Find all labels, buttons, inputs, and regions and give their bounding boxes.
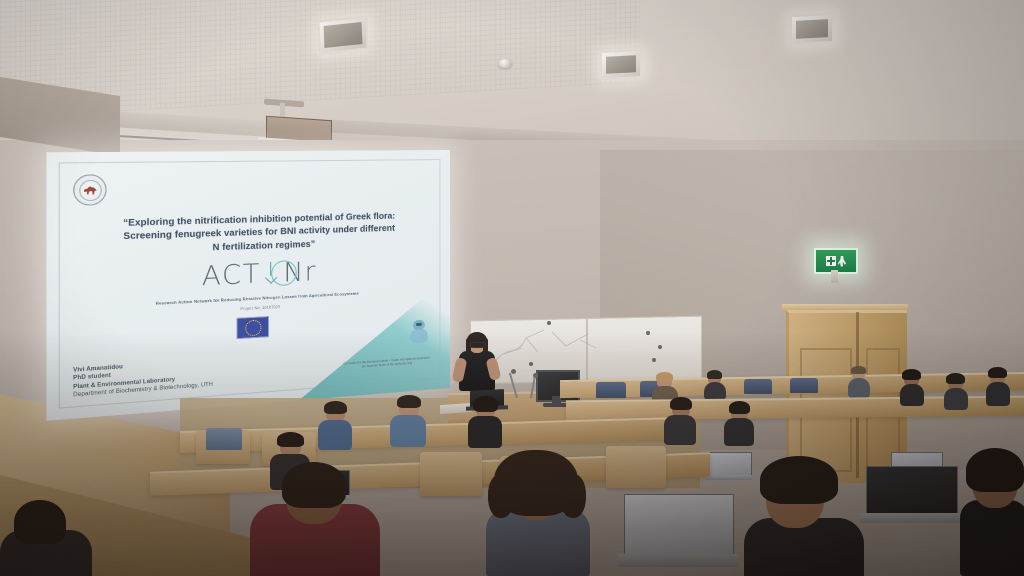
audience-member bbox=[724, 404, 754, 444]
audience-member bbox=[848, 368, 870, 396]
audience-member bbox=[664, 400, 696, 442]
whiteboard-magnet bbox=[529, 362, 533, 366]
logo-text-left: ACT bbox=[202, 258, 261, 292]
audience-member bbox=[318, 404, 352, 444]
audience-member-foreground bbox=[0, 500, 92, 576]
audience-laptop-foreground[interactable] bbox=[618, 494, 738, 572]
european-union-flag-icon bbox=[236, 316, 269, 339]
whiteboard-magnet bbox=[547, 321, 551, 325]
audience-member bbox=[900, 372, 924, 402]
whiteboard-sketch bbox=[492, 326, 612, 366]
audience-member-foreground bbox=[744, 464, 864, 576]
microphone-head bbox=[511, 369, 516, 374]
whiteboard-magnet bbox=[652, 358, 656, 362]
audience-member-foreground bbox=[250, 470, 380, 576]
presentation-slide: “Exploring the nitrification inhibition … bbox=[46, 150, 450, 421]
recessed-downlight-icon bbox=[600, 49, 642, 80]
whiteboard-magnet bbox=[646, 331, 650, 335]
microphone-head bbox=[533, 373, 538, 378]
audience-member bbox=[468, 400, 502, 444]
seat-back bbox=[596, 382, 626, 398]
seat-back bbox=[744, 379, 772, 394]
whiteboard-magnet bbox=[658, 345, 662, 349]
recessed-downlight-icon bbox=[317, 15, 368, 54]
audience-member-foreground bbox=[960, 456, 1024, 576]
slide-mascot-icon bbox=[409, 319, 429, 346]
seat bbox=[420, 452, 482, 496]
recessed-downlight-icon bbox=[790, 13, 834, 45]
audience-member bbox=[704, 372, 726, 398]
ceiling-sensor-icon bbox=[498, 59, 512, 68]
lecture-hall-photo: “Exploring the nitrification inhibition … bbox=[0, 0, 1024, 576]
presenter-glasses-icon bbox=[470, 342, 486, 348]
exit-sign-mount bbox=[831, 270, 838, 283]
seat-back bbox=[206, 428, 242, 450]
projection-screen: “Exploring the nitrification inhibition … bbox=[46, 150, 450, 421]
audience-member bbox=[390, 398, 426, 442]
audience-member bbox=[986, 370, 1010, 402]
seat bbox=[606, 446, 666, 488]
seat-back bbox=[790, 378, 818, 393]
logo-down-arrow-icon bbox=[266, 262, 276, 281]
audience-member bbox=[944, 376, 968, 406]
audience-laptop[interactable] bbox=[860, 466, 960, 528]
audience-member-foreground bbox=[486, 456, 590, 576]
